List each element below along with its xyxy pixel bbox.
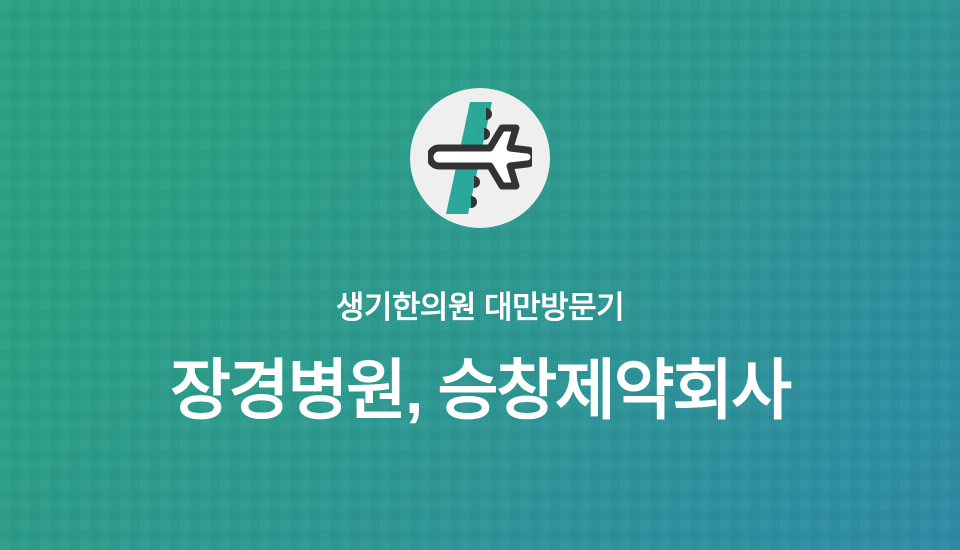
banner-subtitle: 생기한의원 대만방문기 (0, 288, 960, 328)
banner-content: 생기한의원 대만방문기 장경병원, 승창제약회사 (0, 0, 960, 550)
banner-card: 생기한의원 대만방문기 장경병원, 승창제약회사 (0, 0, 960, 550)
logo-badge (410, 88, 550, 228)
airplane-icon (428, 102, 532, 214)
banner-title: 장경병원, 승창제약회사 (0, 350, 960, 430)
